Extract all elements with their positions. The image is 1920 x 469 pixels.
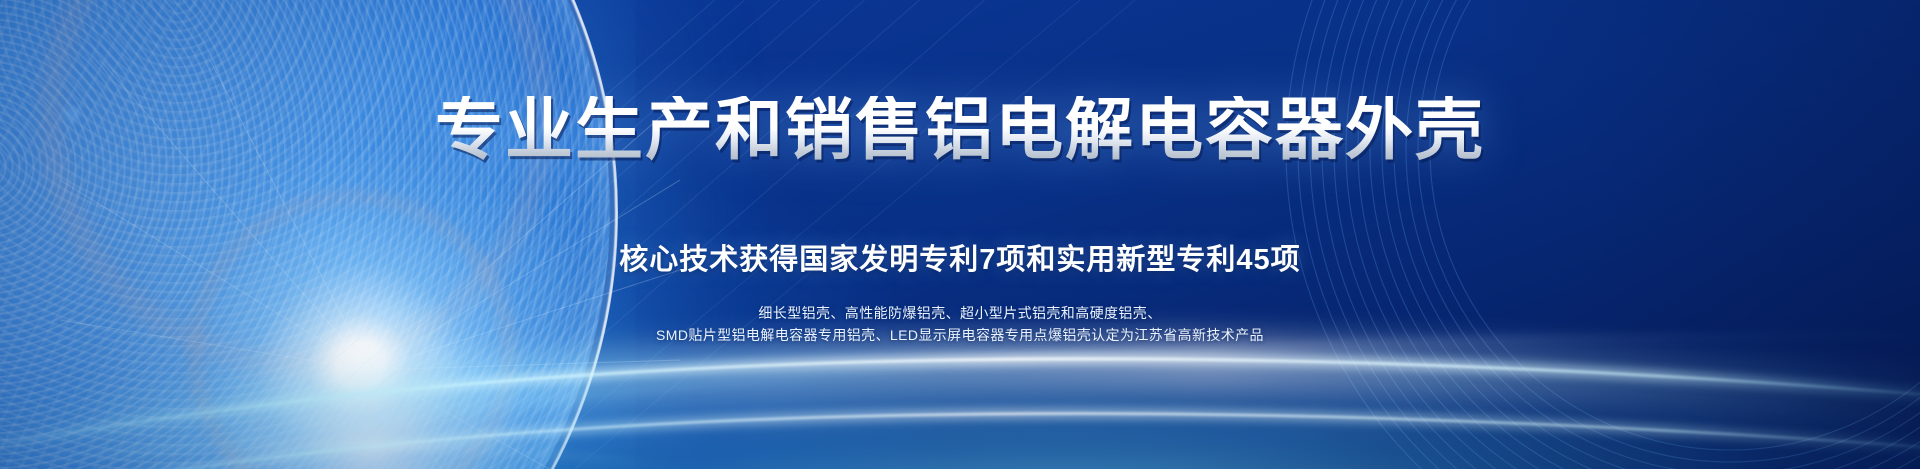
- banner-detail-text: 细长型铝壳、高性能防爆铝壳、超小型片式铝壳和高硬度铝壳、 SMD贴片型铝电解电容…: [656, 302, 1264, 347]
- detail-line: SMD贴片型铝电解电容器专用铝壳、LED显示屏电容器专用点爆铝壳认定为江苏省高新…: [656, 324, 1264, 347]
- page-title: 专业生产和销售铝电解电容器外壳: [435, 96, 1485, 164]
- banner-content: 专业生产和销售铝电解电容器外壳 核心技术获得国家发明专利7项和实用新型专利45项…: [0, 0, 1920, 469]
- hero-banner: 专业生产和销售铝电解电容器外壳 核心技术获得国家发明专利7项和实用新型专利45项…: [0, 0, 1920, 469]
- banner-subtitle: 核心技术获得国家发明专利7项和实用新型专利45项: [619, 236, 1300, 278]
- detail-line: 细长型铝壳、高性能防爆铝壳、超小型片式铝壳和高硬度铝壳、: [656, 302, 1264, 325]
